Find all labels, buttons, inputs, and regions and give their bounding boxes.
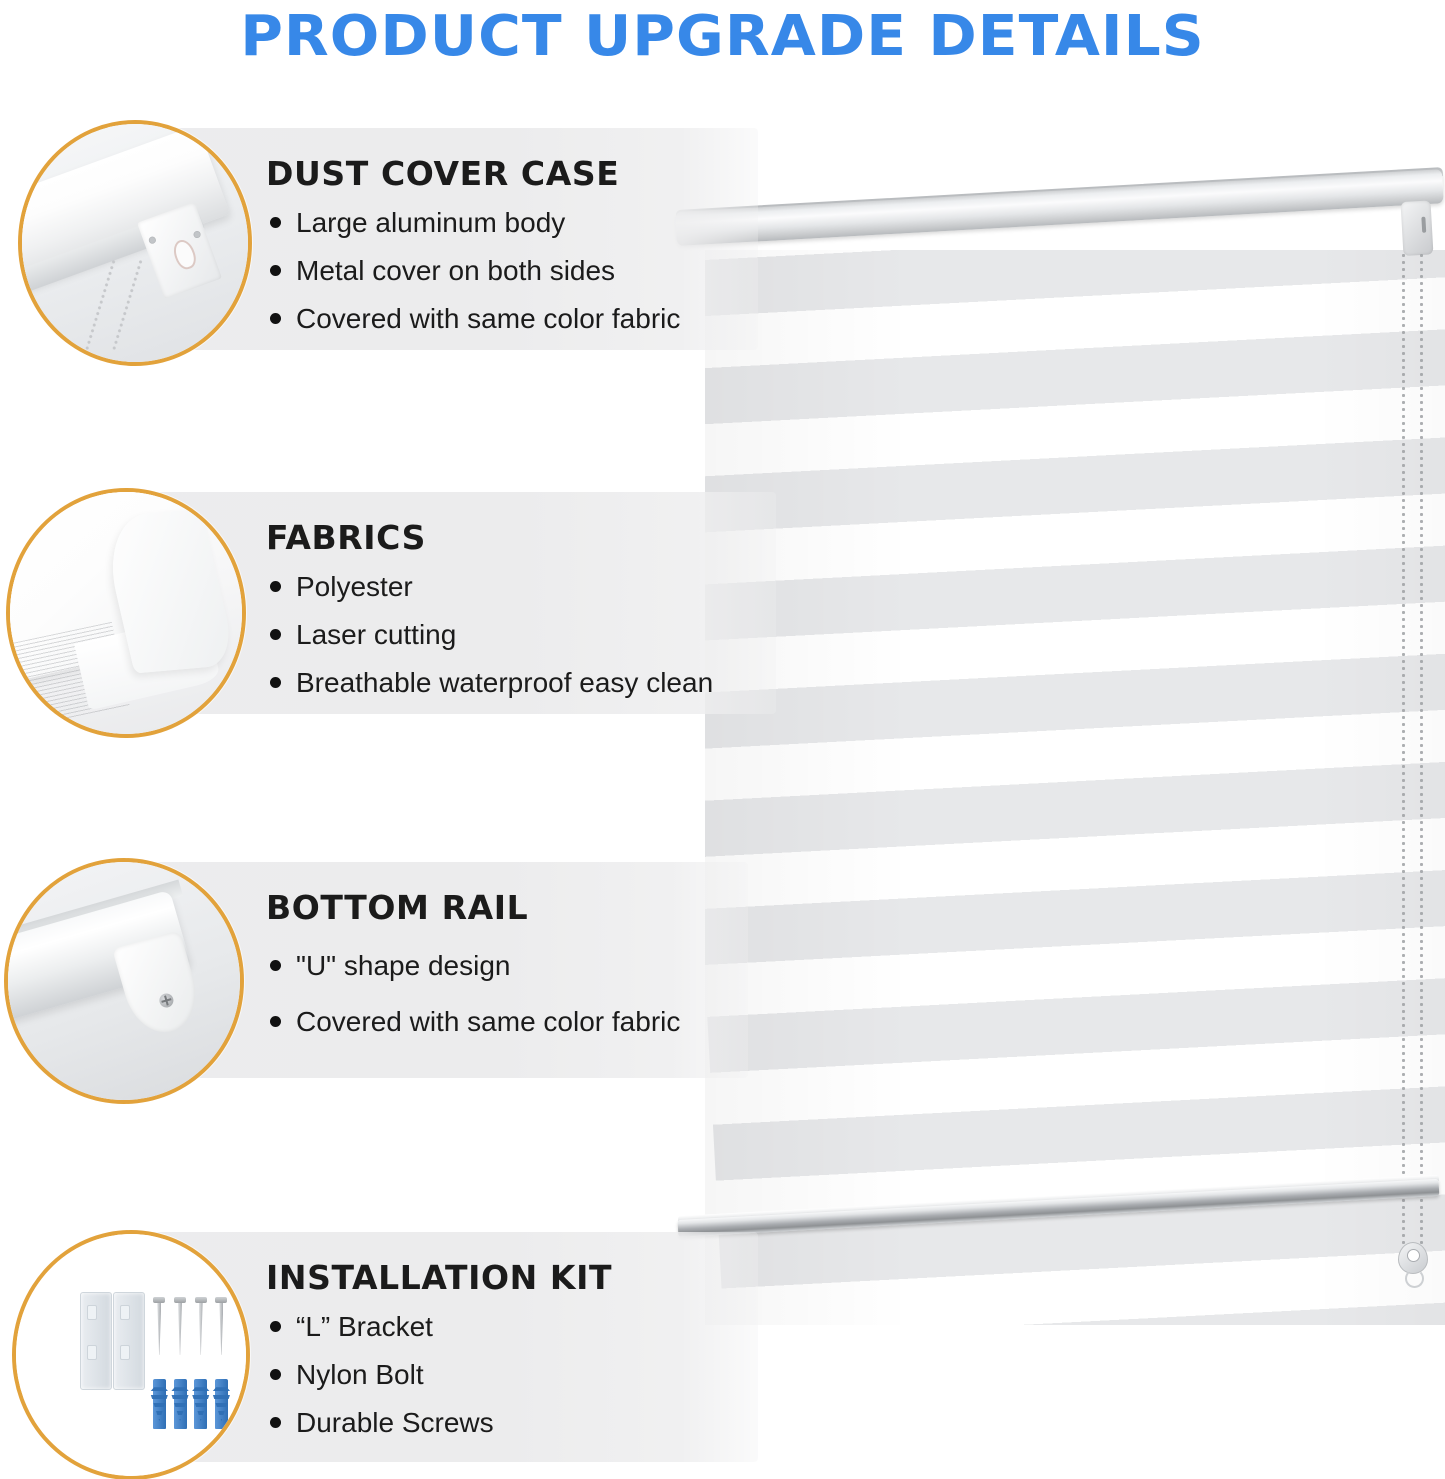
wall-anchor-icon [174, 1379, 187, 1429]
screw-icon [198, 1297, 204, 1355]
chain-strand-icon [112, 259, 143, 351]
screw-shaft [157, 1303, 161, 1355]
screw-head [174, 1297, 186, 1303]
infographic-canvas: PRODUCT UPGRADE DETAILS DUST COVER CASE … [0, 0, 1445, 1479]
beaded-chain-left [1402, 252, 1405, 1262]
product-illustration [660, 190, 1445, 1370]
headrail-cap-slot [1421, 217, 1426, 233]
bullet-item: Laser cutting [266, 619, 713, 651]
bottom-rail-endcap-photo [8, 862, 240, 1100]
wall-anchor-icon [194, 1379, 207, 1429]
bullet-item: Nylon Bolt [266, 1359, 494, 1391]
bullet-item: Polyester [266, 571, 713, 603]
cap-screw-icon [147, 235, 156, 244]
wall-anchor-icon [153, 1379, 166, 1429]
headrail-bar [675, 169, 1444, 246]
bullet-item: Breathable waterproof easy clean [266, 667, 713, 699]
screw-shaft [199, 1303, 203, 1355]
screw-icon [177, 1297, 183, 1355]
beaded-chain-right [1420, 252, 1423, 1262]
chain-eyelet-icon [170, 236, 199, 271]
headrail-end-cap [1400, 200, 1433, 256]
bullet-item: "U" shape design [266, 950, 680, 982]
heading-dust-cover-case: DUST COVER CASE [266, 154, 619, 193]
bullet-item: Covered with same color fabric [266, 1006, 680, 1038]
screw-shaft [219, 1303, 223, 1355]
screw-icon [218, 1297, 224, 1355]
screw-head [153, 1297, 165, 1303]
tensioner-hole [1407, 1249, 1420, 1262]
screw-head [195, 1297, 207, 1303]
l-bracket-icon [80, 1292, 112, 1390]
screw-head [215, 1297, 227, 1303]
bullet-item: “L” Bracket [266, 1311, 494, 1343]
thumbnail-installation-kit [12, 1230, 250, 1479]
installation-hardware-photo [16, 1234, 246, 1476]
bullet-item: Covered with same color fabric [266, 303, 680, 335]
screw-icon [156, 1297, 162, 1355]
wall-anchor-icon [215, 1379, 228, 1429]
rail-cap-screw-icon [157, 992, 174, 1009]
thumbnail-bottom-rail [4, 858, 244, 1104]
chain-tensioner-icon [1398, 1242, 1426, 1284]
heading-fabrics: FABRICS [266, 518, 426, 557]
rail-end-cap [112, 930, 205, 1041]
dust-cover-cassette-photo [22, 124, 248, 362]
page-title: PRODUCT UPGRADE DETAILS [0, 4, 1445, 69]
bullet-item: Large aluminum body [266, 207, 680, 239]
heading-installation-kit: INSTALLATION KIT [266, 1258, 612, 1297]
zebra-fabric [705, 250, 1445, 1325]
heading-bottom-rail: BOTTOM RAIL [266, 888, 528, 927]
cap-screw-icon [192, 229, 201, 238]
chain-strand-icon [85, 259, 116, 351]
bullet-item: Metal cover on both sides [266, 255, 680, 287]
l-bracket-icon [113, 1292, 145, 1390]
bullet-item: Durable Screws [266, 1407, 494, 1439]
thumbnail-fabrics [6, 488, 246, 738]
zebra-stripe-pattern [705, 250, 1445, 1325]
thumbnail-dust-cover-case [18, 120, 252, 366]
tensioner-loop [1405, 1269, 1424, 1288]
folded-fabric-photo [10, 492, 242, 734]
screw-shaft [178, 1303, 182, 1355]
